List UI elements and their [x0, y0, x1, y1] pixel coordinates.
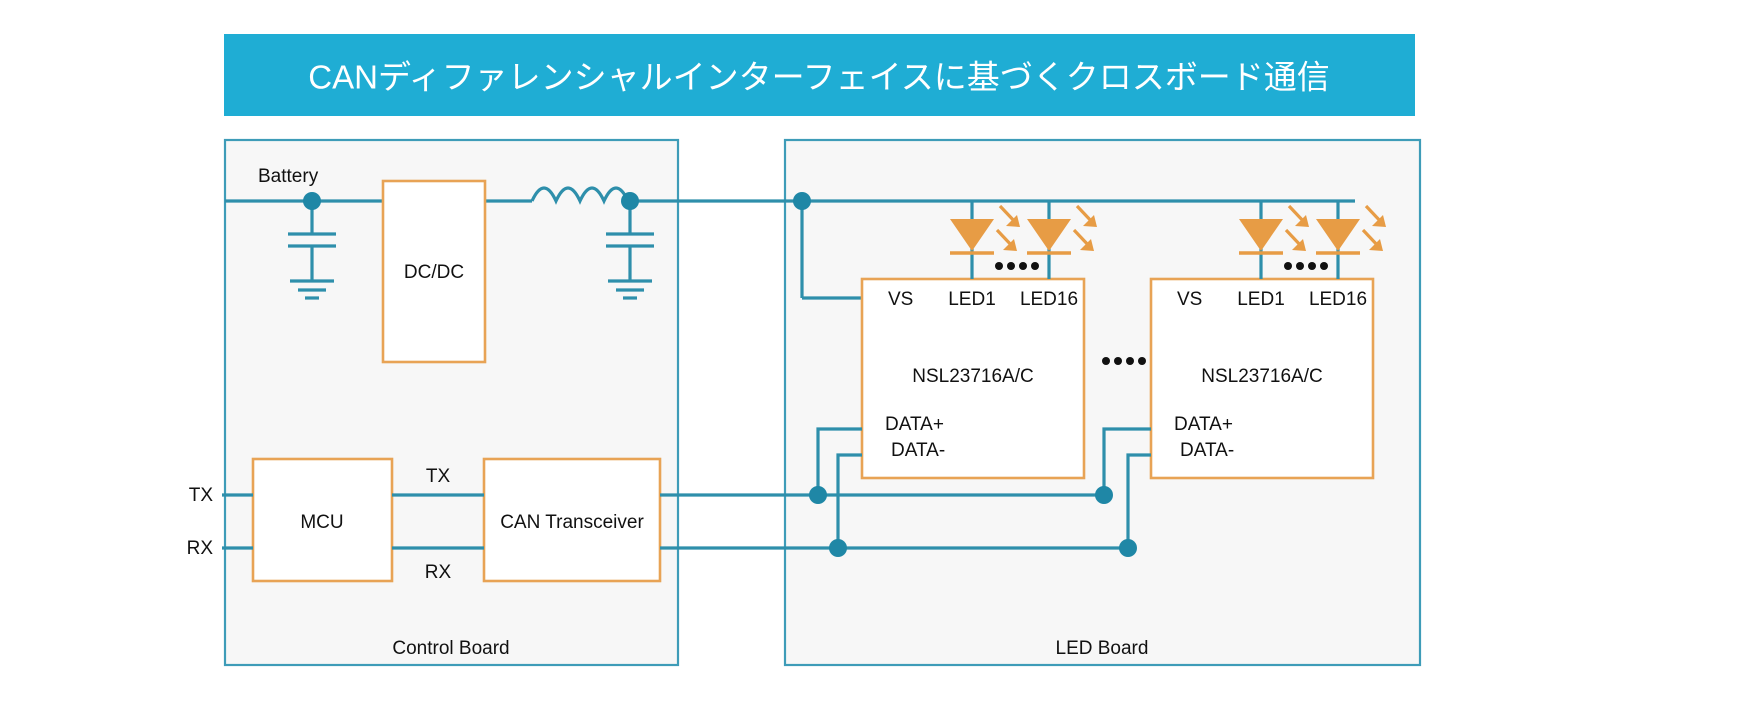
- tx-input-label: TX: [189, 485, 214, 506]
- junction-dot-output-cap: [621, 192, 639, 210]
- between-chips-ellipsis-dot: [1102, 357, 1110, 365]
- led-board-footer-label: LED Board: [1056, 638, 1149, 659]
- battery-label: Battery: [258, 166, 319, 187]
- junction-dot-chip1-data-minus: [829, 539, 847, 557]
- tx-mid-label: TX: [426, 466, 451, 487]
- dcdc-block-label: DC/DC: [404, 262, 464, 283]
- junction-dot-battery: [303, 192, 321, 210]
- cross-board-communication-diagram: CANディファレンシャルインターフェイスに基づくクロスボード通信 Control…: [0, 0, 1762, 717]
- chip-1-pin-data-plus: DATA+: [885, 414, 944, 435]
- junction-dot-chip2-data-plus: [1095, 486, 1113, 504]
- can-transceiver-block-label: CAN Transceiver: [500, 512, 644, 533]
- control-board-footer-label: Control Board: [392, 638, 509, 659]
- junction-dot-chip1-data-plus: [809, 486, 827, 504]
- mcu-block-label: MCU: [300, 512, 343, 533]
- rx-mid-label: RX: [425, 562, 452, 583]
- chip-2-led-ellipsis-dot: [1320, 262, 1328, 270]
- chip-1-pin-vs: VS: [888, 289, 913, 310]
- chip-2-led-ellipsis-dot: [1284, 262, 1292, 270]
- chip-1-name: NSL23716A/C: [912, 366, 1033, 387]
- chip-2-led-ellipsis-dot: [1308, 262, 1316, 270]
- junction-dot-chip2-data-minus: [1119, 539, 1137, 557]
- junction-dot-vs-chip1: [793, 192, 811, 210]
- between-chips-ellipsis-dot: [1114, 357, 1122, 365]
- title-banner-text: CANディファレンシャルインターフェイスに基づくクロスボード通信: [308, 59, 1329, 96]
- diagram-root: CANディファレンシャルインターフェイスに基づくクロスボード通信 Control…: [0, 0, 1762, 717]
- chip-1-led-ellipsis-dot: [995, 262, 1003, 270]
- chip-2-pin-data-plus: DATA+: [1174, 414, 1233, 435]
- chip-1-led-ellipsis-dot: [1007, 262, 1015, 270]
- chip-2-pin-led16: LED16: [1309, 289, 1367, 310]
- chip-1-pin-data-minus: DATA-: [891, 440, 945, 461]
- chip-2-pin-led1: LED1: [1237, 289, 1285, 310]
- between-chips-ellipsis-dot: [1138, 357, 1146, 365]
- chip-2-pin-data-minus: DATA-: [1180, 440, 1234, 461]
- chip-1-led-ellipsis-dot: [1019, 262, 1027, 270]
- chip-2-led-ellipsis-dot: [1296, 262, 1304, 270]
- chip-2-pin-vs: VS: [1177, 289, 1202, 310]
- rx-input-label: RX: [187, 538, 214, 559]
- chip-1-led-ellipsis-dot: [1031, 262, 1039, 270]
- between-chips-ellipsis-dot: [1126, 357, 1134, 365]
- chip-1-pin-led1: LED1: [948, 289, 996, 310]
- chip-1-pin-led16: LED16: [1020, 289, 1078, 310]
- chip-2-name: NSL23716A/C: [1201, 366, 1322, 387]
